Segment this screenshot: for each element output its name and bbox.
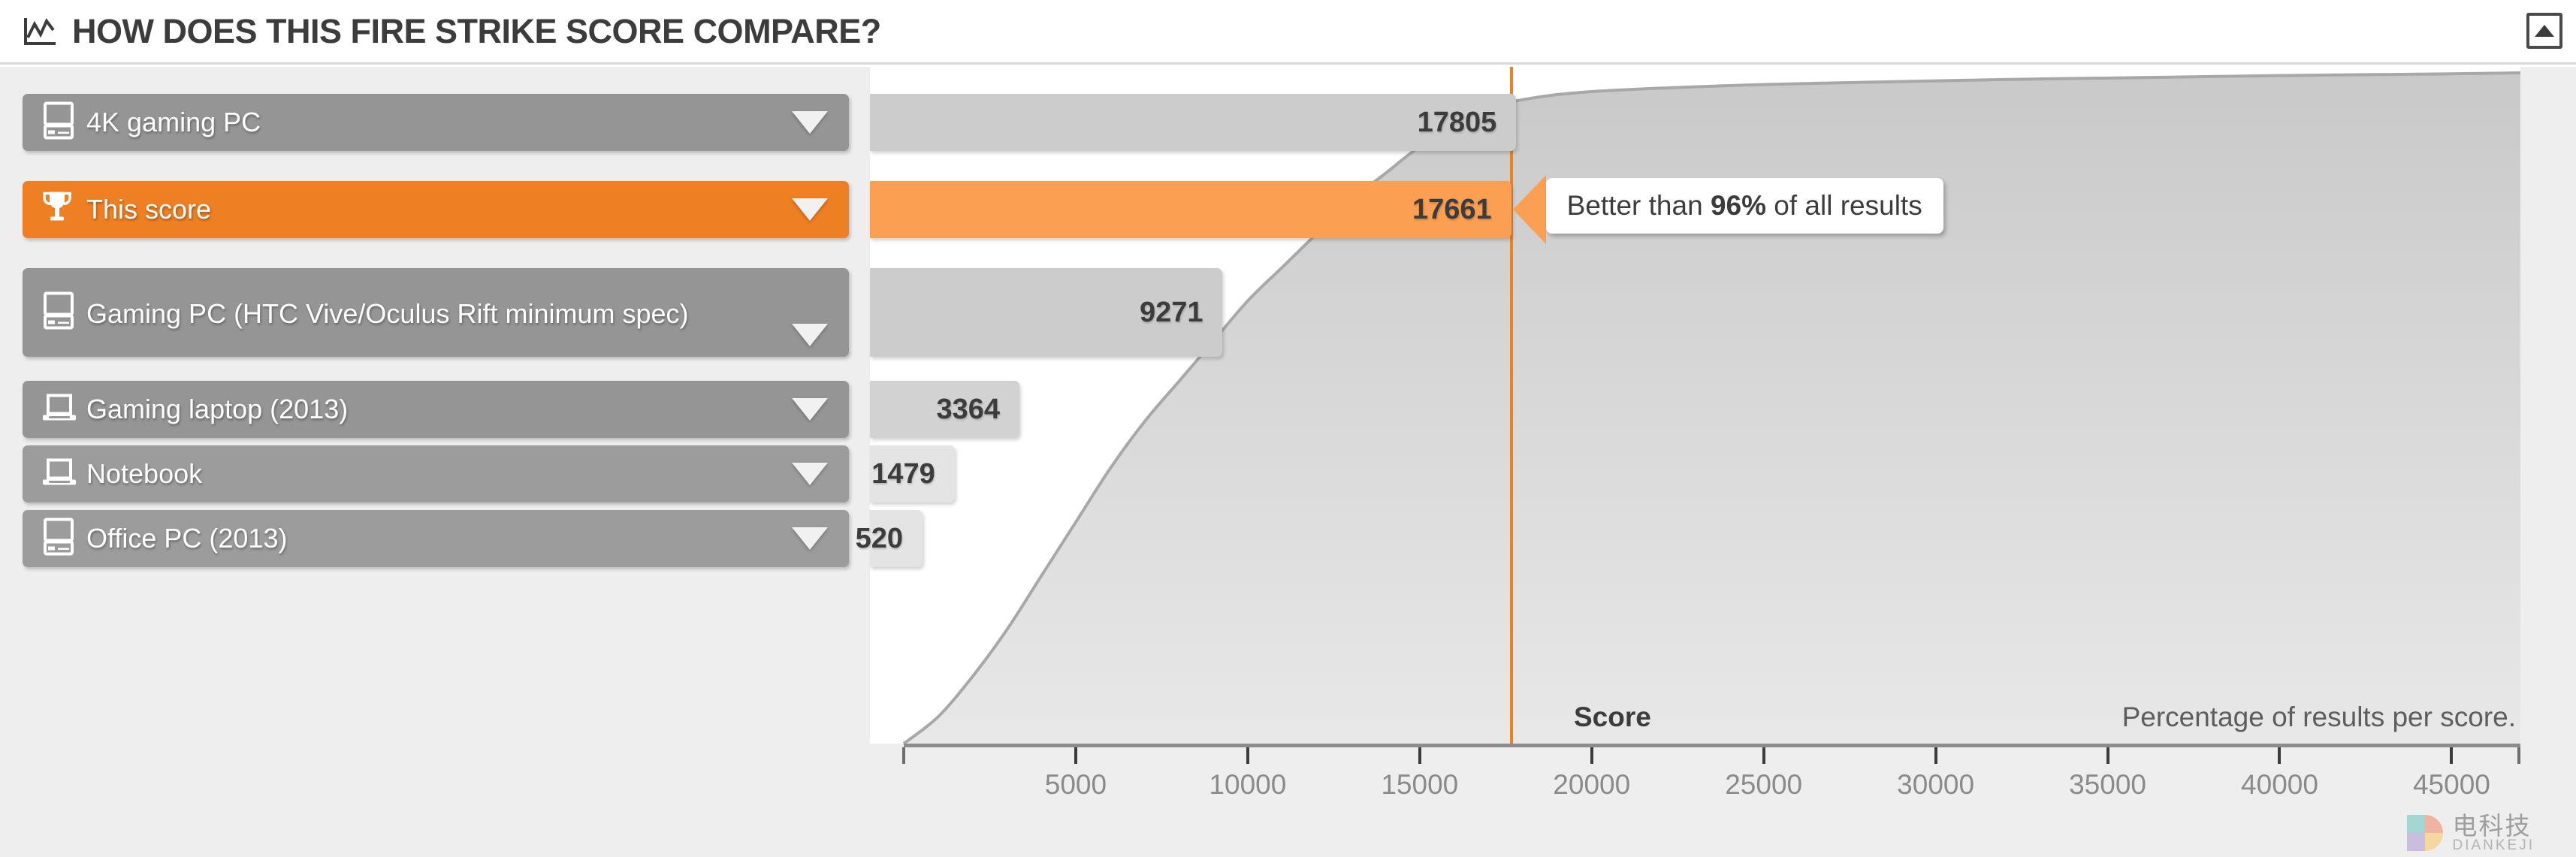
axis-tick-label: 5000 bbox=[1045, 769, 1107, 801]
collapse-panel-button[interactable] bbox=[2526, 13, 2562, 49]
score-value: 1479 bbox=[871, 458, 935, 490]
row-label-text: 4K gaming PC bbox=[86, 107, 261, 138]
watermark: 电科技 DIANKEJI bbox=[2405, 813, 2535, 852]
axis-tick-label: 40000 bbox=[2241, 769, 2318, 801]
axis-tick-label: 45000 bbox=[2413, 769, 2490, 801]
score-bar: 3364 bbox=[870, 381, 1019, 438]
axis-tick bbox=[1934, 747, 1937, 764]
axis-caption-percentage: Percentage of results per score. bbox=[2122, 702, 2516, 733]
desktop-pc-icon bbox=[41, 101, 77, 140]
axis-tick bbox=[902, 747, 905, 764]
axis-tick bbox=[1762, 747, 1765, 764]
score-value: 520 bbox=[856, 523, 903, 555]
score-bar: 520 bbox=[870, 510, 923, 567]
score-bar: 17661 bbox=[870, 181, 1511, 238]
laptop-icon bbox=[41, 456, 78, 493]
laptop-icon bbox=[41, 456, 78, 489]
axis-tick-label: 30000 bbox=[1897, 769, 1974, 801]
axis-tick-label: 10000 bbox=[1209, 769, 1286, 801]
score-value: 3364 bbox=[936, 394, 1000, 426]
chevron-down-icon[interactable] bbox=[792, 324, 828, 346]
desktop-pc-icon bbox=[41, 518, 77, 560]
diankeji-logo-icon bbox=[2405, 813, 2445, 852]
tooltip-prefix: Better than bbox=[1567, 190, 1711, 221]
desktop-pc-icon bbox=[41, 518, 77, 557]
trophy-icon bbox=[41, 189, 74, 231]
axis-tick bbox=[1418, 747, 1421, 764]
watermark-cn: 电科技 bbox=[2452, 813, 2535, 838]
axis-tick-label: 25000 bbox=[1725, 769, 1802, 801]
desktop-pc-icon bbox=[41, 101, 77, 144]
chart-line-icon bbox=[23, 17, 57, 47]
page-title: HOW DOES THIS FIRE STRIKE SCORE COMPARE? bbox=[72, 12, 881, 51]
axis-tick bbox=[1246, 747, 1249, 764]
score-bar: 17805 bbox=[870, 94, 1516, 151]
laptop-icon bbox=[41, 391, 78, 424]
watermark-text: 电科技 DIANKEJI bbox=[2452, 813, 2535, 852]
axis-end-tick bbox=[2517, 747, 2520, 764]
tooltip-highlight: 96% bbox=[1711, 190, 1766, 221]
row-label-text: Office PC (2013) bbox=[86, 523, 287, 554]
axis-tick bbox=[2450, 747, 2453, 764]
row-label-5[interactable]: Notebook bbox=[23, 445, 849, 502]
desktop-pc-icon bbox=[41, 291, 77, 330]
row-label-text: Notebook bbox=[86, 458, 202, 490]
row-label-6[interactable]: Office PC (2013) bbox=[23, 510, 849, 567]
chevron-down-icon[interactable] bbox=[792, 527, 828, 550]
chevron-down-icon[interactable] bbox=[792, 398, 828, 421]
laptop-icon bbox=[41, 391, 78, 428]
score-bar: 9271 bbox=[870, 268, 1222, 357]
tooltip-suffix: of all results bbox=[1766, 190, 1922, 221]
row-label-1[interactable]: 4K gaming PC bbox=[23, 94, 849, 151]
row-label-4[interactable]: Gaming laptop (2013) bbox=[23, 381, 849, 438]
axis-tick bbox=[2106, 747, 2109, 764]
axis-tick-label: 35000 bbox=[2069, 769, 2146, 801]
tooltip-arrow-icon bbox=[1513, 175, 1546, 244]
cumulative-distribution-curve bbox=[870, 67, 2520, 744]
row-label-text: Gaming laptop (2013) bbox=[86, 394, 348, 425]
score-marker-line bbox=[1510, 67, 1513, 744]
row-label-2[interactable]: This score bbox=[23, 181, 849, 238]
fire-strike-compare-panel: HOW DOES THIS FIRE STRIKE SCORE COMPARE?… bbox=[0, 0, 2576, 857]
chart-body: 17805 4K gaming PC17661 This score9271 G… bbox=[0, 67, 2576, 857]
panel-header: HOW DOES THIS FIRE STRIKE SCORE COMPARE? bbox=[0, 0, 2576, 65]
percentile-tooltip: Better than 96% of all results bbox=[1546, 178, 1943, 234]
score-value: 17661 bbox=[1412, 194, 1492, 226]
trophy-icon bbox=[41, 189, 74, 227]
score-bar: 1479 bbox=[870, 445, 955, 502]
chevron-up-icon bbox=[2535, 25, 2554, 37]
chevron-down-icon[interactable] bbox=[792, 111, 828, 134]
score-value: 17805 bbox=[1418, 107, 1497, 139]
axis-tick-label: 15000 bbox=[1381, 769, 1458, 801]
row-label-text: Gaming PC (HTC Vive/Oculus Rift minimum … bbox=[86, 298, 689, 330]
row-label-3[interactable]: Gaming PC (HTC Vive/Oculus Rift minimum … bbox=[23, 268, 849, 357]
chevron-down-icon[interactable] bbox=[792, 463, 828, 485]
row-label-text: This score bbox=[86, 194, 211, 225]
chevron-down-icon[interactable] bbox=[792, 198, 828, 221]
axis-caption-score: Score bbox=[1574, 702, 1651, 733]
plot-right-gutter bbox=[2520, 67, 2576, 744]
score-value: 9271 bbox=[1140, 297, 1203, 329]
axis-tick bbox=[1590, 747, 1593, 764]
axis-tick bbox=[1074, 747, 1077, 764]
axis-tick-label: 20000 bbox=[1553, 769, 1630, 801]
desktop-pc-icon bbox=[41, 291, 77, 334]
watermark-en: DIANKEJI bbox=[2452, 838, 2535, 852]
axis-tick bbox=[2278, 747, 2281, 764]
